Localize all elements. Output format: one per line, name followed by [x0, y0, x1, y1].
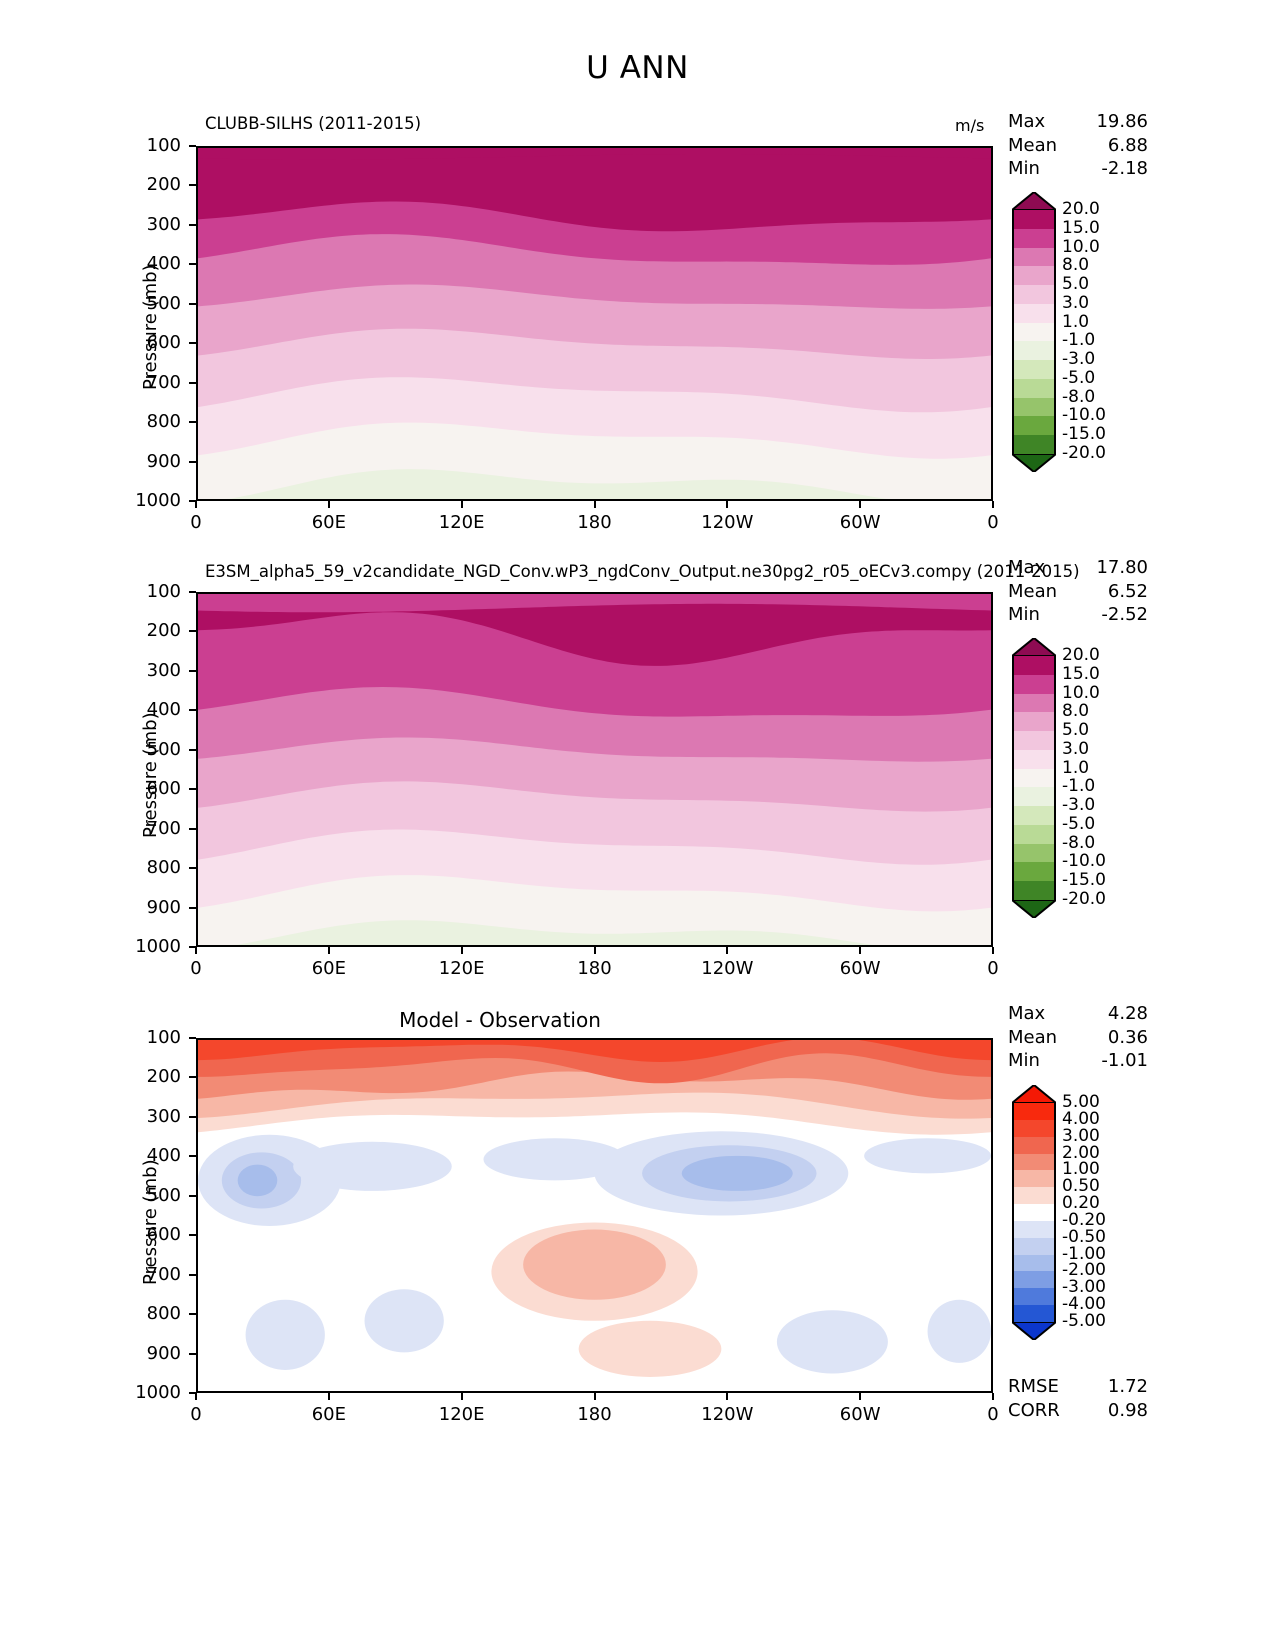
- x-tick-label: 0: [151, 512, 241, 533]
- y-tick-label: 400: [111, 699, 181, 720]
- colorbar-segment: [1014, 210, 1054, 229]
- colorbar-segment: [1014, 1221, 1054, 1238]
- colorbar-under-arrow: [1012, 900, 1056, 918]
- panel-diff-plot[interactable]: [196, 1038, 993, 1393]
- contour-blob: [238, 1165, 278, 1197]
- contour-anomaly-blobs: [198, 1040, 991, 1391]
- colorbar-tick-label: -3.0: [1062, 349, 1095, 369]
- y-tick-label: 900: [111, 1343, 181, 1364]
- panel-test-title: CLUBB-SILHS (2011-2015): [205, 114, 421, 133]
- x-tick: [594, 501, 596, 508]
- colorbar-segment: [1014, 750, 1054, 769]
- colorbar-tick-labels: 20.015.010.08.05.03.01.0-1.0-3.0-5.0-8.0…: [1062, 192, 1152, 472]
- contour-blob: [864, 1138, 991, 1173]
- y-tick-label: 600: [111, 778, 181, 799]
- colorbar-tick-label: -10.0: [1062, 851, 1106, 871]
- colorbar-tick-label: 10.0: [1062, 683, 1100, 703]
- y-tick-label: 700: [111, 372, 181, 393]
- y-tick-label: 100: [111, 1027, 181, 1048]
- y-tick: [189, 828, 196, 830]
- contour-blob: [523, 1230, 666, 1300]
- colorbar-segment: [1014, 881, 1054, 900]
- x-tick-label: 0: [948, 1404, 1038, 1425]
- colorbar-segment: [1014, 1255, 1054, 1272]
- y-tick: [189, 946, 196, 948]
- x-tick: [461, 947, 463, 954]
- colorbar-segment: [1014, 266, 1054, 285]
- colorbar-under-arrow: [1012, 1322, 1056, 1340]
- colorbar-segment: [1014, 379, 1054, 398]
- colorbar-tick-label: 20.0: [1062, 199, 1100, 219]
- x-tick-label: 120W: [682, 512, 772, 533]
- contour-blob: [777, 1310, 888, 1373]
- colorbar-segment: [1014, 712, 1054, 731]
- colorbar-tick-label: -10.0: [1062, 405, 1106, 425]
- x-tick: [594, 1393, 596, 1400]
- y-tick: [189, 788, 196, 790]
- x-tick: [726, 501, 728, 508]
- y-tick: [189, 421, 196, 423]
- y-tick: [189, 1274, 196, 1276]
- colorbar-segment: [1014, 416, 1054, 435]
- x-tick-label: 60E: [284, 512, 374, 533]
- colorbar-under-arrow: [1012, 454, 1056, 472]
- contour-blob: [928, 1300, 991, 1363]
- colorbar-tick-label: 1.0: [1062, 312, 1089, 332]
- x-tick-label: 60W: [815, 512, 905, 533]
- y-tick: [189, 184, 196, 186]
- colorbar-tick-label: 20.0: [1062, 645, 1100, 665]
- colorbar-segment: [1014, 1305, 1054, 1322]
- contour-blob: [293, 1142, 452, 1191]
- colorbar-segment: [1014, 360, 1054, 379]
- x-tick-label: 120W: [682, 958, 772, 979]
- colorbar-tick-label: -15.0: [1062, 424, 1106, 444]
- panel-test-colorbar: 20.015.010.08.05.03.01.0-1.0-3.0-5.0-8.0…: [1012, 192, 1056, 472]
- y-tick-label: 100: [111, 135, 181, 156]
- y-tick-label: 1000: [111, 1382, 181, 1403]
- x-tick-label: 0: [151, 1404, 241, 1425]
- y-tick-label: 700: [111, 818, 181, 839]
- colorbar-tick-label: -15.0: [1062, 870, 1106, 890]
- x-tick: [726, 1393, 728, 1400]
- colorbar-over-arrow: [1012, 192, 1056, 210]
- y-tick: [189, 303, 196, 305]
- colorbar-segment: [1014, 675, 1054, 694]
- x-tick-label: 0: [948, 512, 1038, 533]
- x-tick: [195, 947, 197, 954]
- colorbar-segment: [1014, 694, 1054, 713]
- y-tick: [189, 1037, 196, 1039]
- x-tick-label: 120W: [682, 1404, 772, 1425]
- colorbar-segment: [1014, 1187, 1054, 1204]
- x-tick: [328, 1393, 330, 1400]
- contour-blob: [365, 1289, 444, 1352]
- contour-field: [198, 594, 991, 945]
- panel-test-units: m/s: [955, 116, 984, 135]
- x-tick-label: 0: [151, 958, 241, 979]
- colorbar-tick-labels: 20.015.010.08.05.03.01.0-1.0-3.0-5.0-8.0…: [1062, 638, 1152, 918]
- colorbar-segment: [1014, 844, 1054, 863]
- colorbar-segment: [1014, 323, 1054, 342]
- y-tick-label: 700: [111, 1264, 181, 1285]
- y-tick-label: 200: [111, 620, 181, 641]
- y-tick-label: 400: [111, 253, 181, 274]
- colorbar-tick-label: -5.0: [1062, 814, 1095, 834]
- colorbar-tick-label: 8.0: [1062, 701, 1089, 721]
- y-tick: [189, 461, 196, 463]
- colorbar-segment: [1014, 862, 1054, 881]
- contour-blob: [682, 1156, 793, 1191]
- x-tick: [195, 1393, 197, 1400]
- colorbar-segment: [1014, 248, 1054, 267]
- y-tick: [189, 709, 196, 711]
- y-tick: [189, 145, 196, 147]
- x-tick-label: 120E: [417, 1404, 507, 1425]
- y-tick-label: 800: [111, 1303, 181, 1324]
- contour-field: [198, 148, 991, 499]
- y-tick: [189, 1076, 196, 1078]
- colorbar-body: [1012, 210, 1056, 454]
- colorbar-segment: [1014, 229, 1054, 248]
- panel-ref-plot[interactable]: [196, 592, 993, 947]
- x-tick: [859, 501, 861, 508]
- colorbar-tick-label: -3.0: [1062, 795, 1095, 815]
- colorbar-tick-label: 8.0: [1062, 255, 1089, 275]
- panel-ref-colorbar: 20.015.010.08.05.03.01.0-1.0-3.0-5.0-8.0…: [1012, 638, 1056, 918]
- x-tick: [195, 501, 197, 508]
- y-tick: [189, 342, 196, 344]
- y-tick-label: 400: [111, 1145, 181, 1166]
- colorbar-segment: [1014, 304, 1054, 323]
- y-tick: [189, 591, 196, 593]
- x-tick: [992, 947, 994, 954]
- y-tick-label: 800: [111, 411, 181, 432]
- y-tick-label: 600: [111, 1224, 181, 1245]
- y-tick: [189, 263, 196, 265]
- colorbar-tick-label: 15.0: [1062, 664, 1100, 684]
- y-tick-label: 1000: [111, 936, 181, 957]
- y-tick: [189, 749, 196, 751]
- y-tick-label: 200: [111, 174, 181, 195]
- colorbar-segment: [1014, 398, 1054, 417]
- x-tick: [461, 1393, 463, 1400]
- colorbar-tick-label: -20.0: [1062, 889, 1106, 909]
- colorbar-segment: [1014, 1204, 1054, 1221]
- y-tick-label: 600: [111, 332, 181, 353]
- colorbar-tick-label: -1.0: [1062, 776, 1095, 796]
- y-tick-label: 900: [111, 451, 181, 472]
- y-tick-label: 300: [111, 214, 181, 235]
- y-tick-label: 300: [111, 1106, 181, 1127]
- x-tick: [726, 947, 728, 954]
- x-tick-label: 120E: [417, 512, 507, 533]
- y-tick-label: 800: [111, 857, 181, 878]
- colorbar-tick-label: 10.0: [1062, 237, 1100, 257]
- colorbar-tick-label: -20.0: [1062, 443, 1106, 463]
- colorbar-segment: [1014, 1238, 1054, 1255]
- x-tick-label: 60W: [815, 958, 905, 979]
- colorbar-segment: [1014, 656, 1054, 675]
- colorbar-segment: [1014, 1271, 1054, 1288]
- colorbar-tick-label: 15.0: [1062, 218, 1100, 238]
- x-tick-label: 180: [550, 512, 640, 533]
- colorbar-tick-label: -8.0: [1062, 387, 1095, 407]
- x-tick-label: 60E: [284, 1404, 374, 1425]
- colorbar-tick-labels: 5.004.003.002.001.000.500.20-0.20-0.50-1…: [1062, 1085, 1152, 1340]
- colorbar-over-arrow: [1012, 638, 1056, 656]
- y-tick: [189, 224, 196, 226]
- colorbar-tick-label: -1.0: [1062, 330, 1095, 350]
- colorbar-tick-label: 3.0: [1062, 293, 1089, 313]
- y-tick: [189, 907, 196, 909]
- colorbar-segment: [1014, 285, 1054, 304]
- colorbar-tick-label: 3.0: [1062, 739, 1089, 759]
- x-tick: [461, 501, 463, 508]
- panel-diff-colorbar: 5.004.003.002.001.000.500.20-0.20-0.50-1…: [1012, 1085, 1056, 1340]
- colorbar-tick-label: -8.0: [1062, 833, 1095, 853]
- y-tick: [189, 630, 196, 632]
- x-tick: [328, 947, 330, 954]
- colorbar-tick-label: 5.0: [1062, 274, 1089, 294]
- y-tick: [189, 500, 196, 502]
- y-tick-label: 900: [111, 897, 181, 918]
- y-tick: [189, 1392, 196, 1394]
- figure-title: U ANN: [0, 50, 1275, 86]
- colorbar-tick-label: 5.0: [1062, 720, 1089, 740]
- y-tick: [189, 867, 196, 869]
- x-tick-label: 180: [550, 1404, 640, 1425]
- y-tick-label: 1000: [111, 490, 181, 511]
- x-tick-label: 0: [948, 958, 1038, 979]
- colorbar-segment: [1014, 1137, 1054, 1154]
- y-tick: [189, 670, 196, 672]
- y-tick: [189, 382, 196, 384]
- colorbar-body: [1012, 656, 1056, 900]
- colorbar-segment: [1014, 806, 1054, 825]
- contour-blob: [579, 1321, 722, 1377]
- colorbar-segment: [1014, 787, 1054, 806]
- x-tick: [992, 1393, 994, 1400]
- y-tick-label: 300: [111, 660, 181, 681]
- colorbar-tick-label: -5.00: [1062, 1311, 1106, 1331]
- colorbar-segment: [1014, 435, 1054, 454]
- figure-canvas: U ANN CLUBB-SILHS (2011-2015) m/s Max19.…: [0, 0, 1275, 1650]
- x-tick-label: 120E: [417, 958, 507, 979]
- colorbar-segment: [1014, 731, 1054, 750]
- colorbar-over-arrow: [1012, 1085, 1056, 1103]
- x-tick-label: 60E: [284, 958, 374, 979]
- x-tick-label: 180: [550, 958, 640, 979]
- colorbar-tick-label: -5.0: [1062, 368, 1095, 388]
- panel-test-plot[interactable]: [196, 146, 993, 501]
- y-tick-label: 200: [111, 1066, 181, 1087]
- colorbar-segment: [1014, 1170, 1054, 1187]
- y-tick-label: 500: [111, 739, 181, 760]
- colorbar-segment: [1014, 1288, 1054, 1305]
- y-tick-label: 100: [111, 581, 181, 602]
- x-tick: [859, 947, 861, 954]
- x-tick-label: 60W: [815, 1404, 905, 1425]
- y-tick: [189, 1116, 196, 1118]
- y-tick: [189, 1195, 196, 1197]
- colorbar-body: [1012, 1103, 1056, 1322]
- y-tick-label: 500: [111, 1185, 181, 1206]
- contour-blob: [246, 1300, 325, 1370]
- y-tick-label: 500: [111, 293, 181, 314]
- x-tick: [859, 1393, 861, 1400]
- colorbar-segment: [1014, 1120, 1054, 1137]
- x-tick: [594, 947, 596, 954]
- y-tick: [189, 1353, 196, 1355]
- colorbar-segment: [1014, 1154, 1054, 1171]
- colorbar-tick-label: 1.0: [1062, 758, 1089, 778]
- y-tick: [189, 1313, 196, 1315]
- x-tick: [328, 501, 330, 508]
- x-tick: [992, 501, 994, 508]
- colorbar-segment: [1014, 341, 1054, 360]
- colorbar-segment: [1014, 825, 1054, 844]
- colorbar-segment: [1014, 769, 1054, 788]
- panel-ref-title: E3SM_alpha5_59_v2candidate_NGD_Conv.wP3_…: [205, 562, 1080, 581]
- colorbar-segment: [1014, 1103, 1054, 1120]
- y-tick: [189, 1234, 196, 1236]
- y-tick: [189, 1155, 196, 1157]
